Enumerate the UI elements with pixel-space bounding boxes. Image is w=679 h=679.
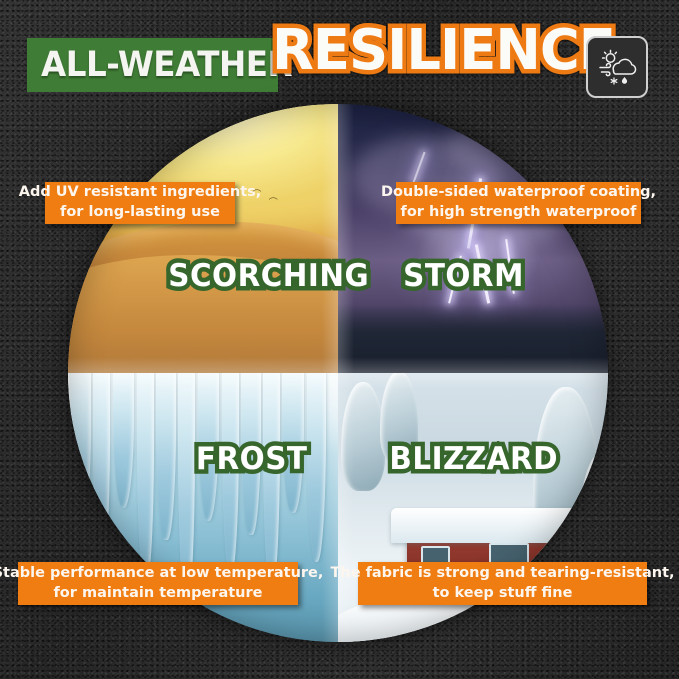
caption-scorching: Add UV resistant ingredients, for long-l… (45, 182, 235, 224)
title-primary: ALL-WEATHER (41, 45, 292, 85)
caption-line-2: for maintain temperature (54, 584, 263, 604)
icicle (71, 373, 90, 529)
caption-line-1: Double-sided waterproof coating, (381, 183, 656, 203)
caption-line-2: to keep stuff fine (433, 584, 573, 604)
caption-storm: Double-sided waterproof coating, for hig… (396, 182, 641, 224)
label-blizzard: BLIZZARD (389, 444, 558, 475)
weather-icon-badge (586, 36, 648, 98)
cabin-roof-snow (391, 508, 583, 543)
caption-line-1: Stable performance at low temperature, (0, 564, 323, 584)
icicle (263, 373, 279, 589)
storm-scene (338, 104, 608, 373)
label-scorching: SCORCHING (168, 261, 369, 292)
storm-cloud (446, 113, 605, 184)
sun-cloud-wind-rain-snow-icon (596, 46, 638, 88)
caption-line-2: for high strength waterproof (401, 203, 637, 223)
caption-blizzard: The fabric is strong and tearing-resista… (358, 562, 647, 605)
label-frost: FROST (196, 444, 308, 475)
quadrant-storm (338, 104, 608, 373)
caption-line-1: Add UV resistant ingredients, (19, 183, 262, 203)
header: ALL-WEATHER RESILIENCE RESILIENCE (0, 0, 679, 110)
title-secondary: RESILIENCE (272, 23, 615, 79)
quadrant-scorching: ︵ ︵ (68, 104, 338, 373)
caption-line-1: The fabric is strong and tearing-resista… (330, 564, 674, 584)
label-storm: STORM (403, 261, 524, 292)
title-primary-bar: ALL-WEATHER (27, 38, 278, 92)
icicle (307, 373, 326, 562)
icicle (113, 373, 135, 508)
poster-canvas: ALL-WEATHER RESILIENCE RESILIENCE (0, 0, 679, 679)
caption-line-2: for long-lasting use (60, 203, 220, 223)
bird-icon: ︵ (269, 192, 278, 201)
desert-scene: ︵ ︵ (68, 104, 338, 373)
icicle (93, 373, 109, 568)
icicle (137, 373, 153, 584)
icicle (156, 373, 175, 540)
caption-frost: Stable performance at low temperature, f… (18, 562, 298, 605)
snow-tree (341, 382, 385, 491)
storm-treeline (338, 304, 608, 373)
